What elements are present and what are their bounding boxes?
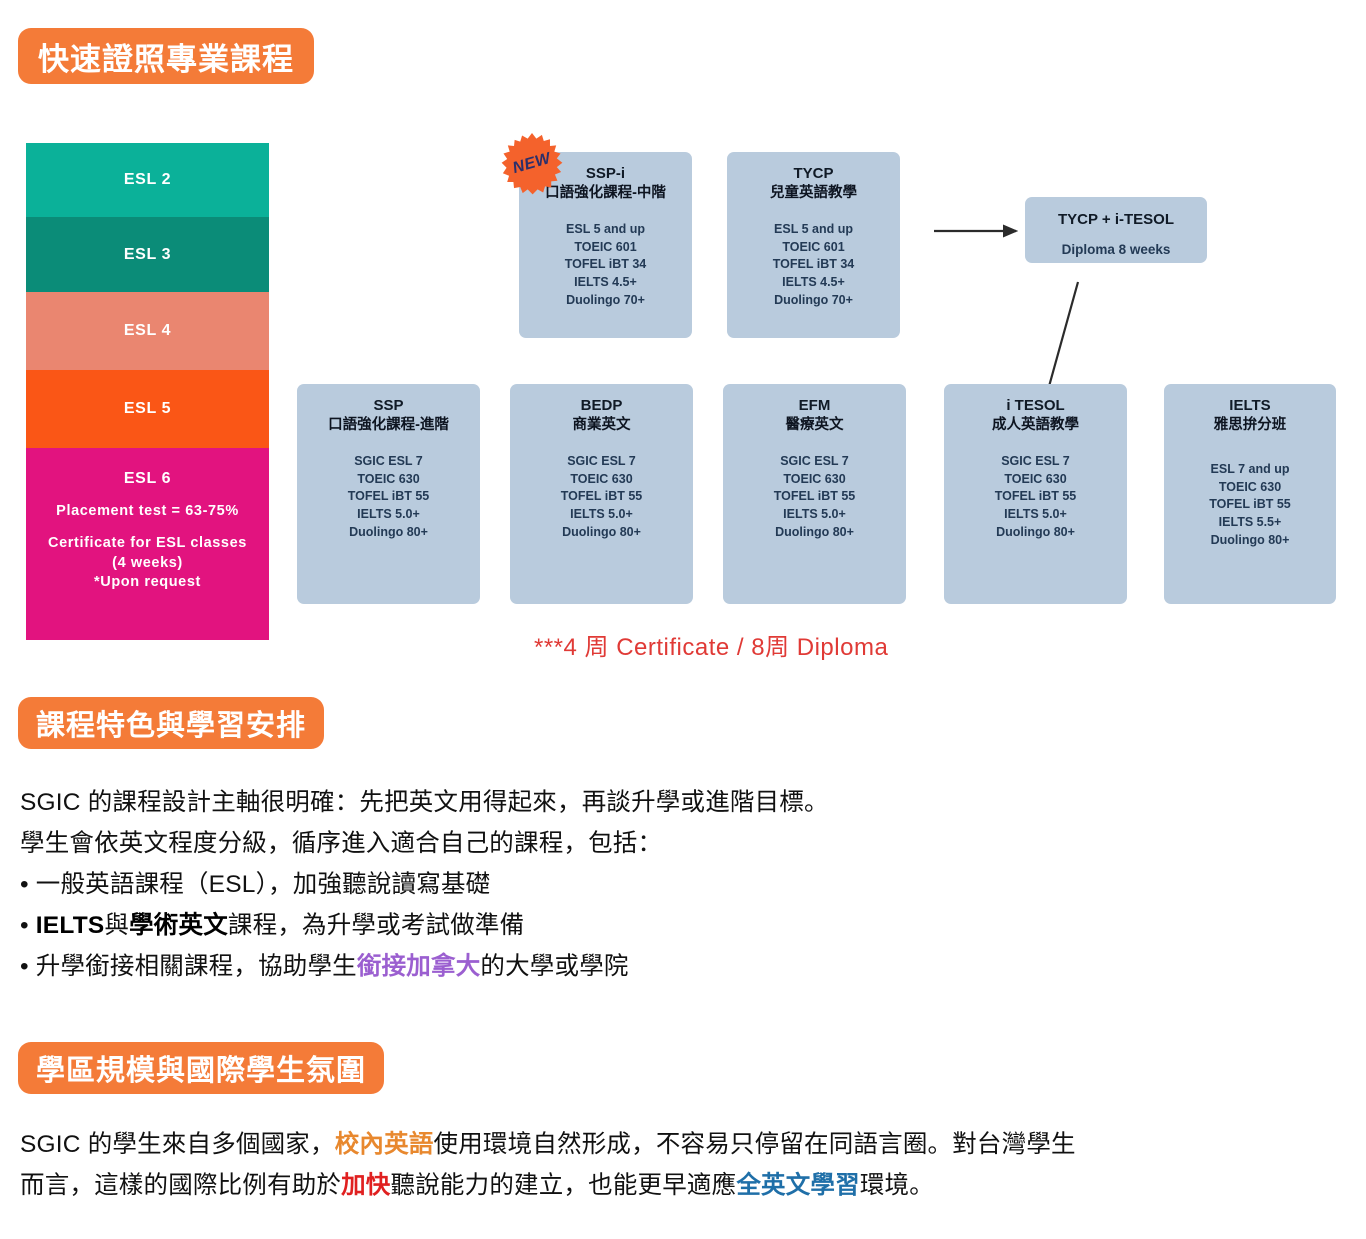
course-subtitle: 雅思拚分班 [1170, 416, 1330, 436]
requirement-item: Duolingo 80+ [516, 524, 687, 542]
esl-step-2: ESL 2 [26, 143, 269, 217]
requirement-item: TOFEL iBT 55 [516, 488, 687, 506]
course-box-ielts[interactable]: IELTS 雅思拚分班 ESL 7 and up TOEIC 630 TOFEL… [1164, 384, 1336, 604]
requirement-item: TOFEL iBT 55 [950, 488, 1121, 506]
emphasis-accelerate: 加快 [341, 1172, 390, 1199]
requirement-item: IELTS 4.5+ [733, 274, 894, 292]
esl-step-label: ESL 4 [124, 322, 171, 340]
section-heading-campus-scale: 學區規模與國際學生氛圍 [18, 1042, 384, 1094]
requirement-item: TOEIC 601 [733, 239, 894, 257]
paragraph-line: SGIC 的學生來自多個國家，校內英語使用環境自然形成，不容易只停留在同語言圈。… [20, 1124, 1360, 1165]
esl-placement-test-note: Placement test = 63-75% [56, 502, 239, 522]
requirement-item: ESL 5 and up [525, 221, 686, 239]
bullet-esl: • 一般英語課程（ESL），加強聽說讀寫基礎 [20, 864, 1340, 905]
requirement-item: TOFEL iBT 34 [733, 256, 894, 274]
emphasis-academic-english: 學術英文 [129, 912, 228, 939]
requirement-item: IELTS 5.0+ [516, 506, 687, 524]
diagram-footnote: ***4 周 Certificate / 8周 Diploma [534, 627, 888, 662]
course-subtitle: 兒童英語教學 [733, 184, 894, 204]
course-box-itesol[interactable]: i TESOL 成人英語教學 SGIC ESL 7 TOEIC 630 TOFE… [944, 384, 1127, 604]
course-subtitle: 口語強化課程-進階 [303, 416, 474, 436]
esl-certificate-note: Certificate for ESL classes (4 weeks) *U… [48, 534, 247, 593]
course-box-tycp[interactable]: TYCP 兒童英語教學 ESL 5 and up TOEIC 601 TOFEL… [727, 152, 900, 338]
requirement-item: IELTS 5.5+ [1170, 514, 1330, 532]
esl-step-label: ESL 3 [124, 246, 171, 264]
requirement-item: ESL 7 and up [1170, 461, 1330, 479]
esl-step-label: ESL 6 [124, 470, 171, 488]
requirement-item: SGIC ESL 7 [303, 453, 474, 471]
esl-step-label: ESL 2 [124, 171, 171, 189]
emphasis-ielts: IELTS [36, 912, 105, 939]
requirement-item: TOEIC 630 [1170, 479, 1330, 497]
requirement-item: SGIC ESL 7 [516, 453, 687, 471]
requirement-item: TOFEL iBT 55 [303, 488, 474, 506]
requirement-item: SGIC ESL 7 [950, 453, 1121, 471]
requirement-item: IELTS 5.0+ [303, 506, 474, 524]
paragraph-text: 環境。 [860, 1172, 934, 1199]
esl-level-ladder: ESL 2 ESL 3 ESL 4 ESL 5 ESL 6 Placement … [26, 143, 269, 640]
course-title: BEDP [516, 396, 687, 416]
paragraph-text: 而言，這樣的國際比例有助於 [20, 1172, 341, 1199]
bullet-text: 課程，為升學或考試做準備 [228, 912, 524, 939]
requirement-item: TOEIC 630 [950, 471, 1121, 489]
requirement-item: TOFEL iBT 34 [525, 256, 686, 274]
course-requirements: ESL 7 and up TOEIC 630 TOFEL iBT 55 IELT… [1170, 461, 1330, 550]
bullet-text: • 升學銜接相關課程，協助學生 [20, 953, 357, 980]
requirement-item: TOEIC 601 [525, 239, 686, 257]
requirement-item: TOFEL iBT 55 [1170, 496, 1330, 514]
bullet-text: 的大學或學院 [480, 953, 628, 980]
course-box-ssp[interactable]: SSP 口語強化課程-進階 SGIC ESL 7 TOEIC 630 TOFEL… [297, 384, 480, 604]
requirement-item: ESL 5 and up [733, 221, 894, 239]
bullet-text: 與 [104, 912, 129, 939]
course-box-bedp[interactable]: BEDP 商業英文 SGIC ESL 7 TOEIC 630 TOFEL iBT… [510, 384, 693, 604]
course-title: EFM [729, 396, 900, 416]
new-badge-label: NEW [494, 126, 571, 203]
emphasis-canada-pathway: 銜接加拿大 [357, 953, 481, 980]
course-requirements: SGIC ESL 7 TOEIC 630 TOFEL iBT 55 IELTS … [729, 453, 900, 542]
requirement-item: TOFEL iBT 55 [729, 488, 900, 506]
bullet-ielts-academic: • IELTS與學術英文課程，為升學或考試做準備 [20, 905, 1340, 946]
section-heading-certificate-programs: 快速證照專業課程 [18, 28, 314, 84]
esl-step-4: ESL 4 [26, 292, 269, 370]
line-itesol-to-diploma [1048, 282, 1078, 390]
paragraph-text: SGIC 的學生來自多個國家， [20, 1131, 335, 1158]
requirement-item: TOEIC 630 [303, 471, 474, 489]
requirement-item: Duolingo 80+ [303, 524, 474, 542]
requirement-item: TOEIC 630 [516, 471, 687, 489]
new-starburst-badge: NEW [501, 133, 563, 195]
course-title: SSP [303, 396, 474, 416]
course-title: TYCP [733, 164, 894, 184]
paragraph-text: 聽說能力的建立，也能更早適應 [391, 1172, 737, 1199]
paragraph-line: 學生會依英文程度分級，循序進入適合自己的課程，包括： [20, 823, 1340, 864]
course-requirements: SGIC ESL 7 TOEIC 630 TOFEL iBT 55 IELTS … [950, 453, 1121, 542]
paragraph-line: SGIC 的課程設計主軸很明確：先把英文用得起來，再談升學或進階目標。 [20, 782, 1340, 823]
requirement-item: Duolingo 70+ [733, 292, 894, 310]
esl-step-6: ESL 6 Placement test = 63-75% Certificat… [26, 448, 269, 640]
course-subtitle: 醫療英文 [729, 416, 900, 436]
requirement-item: IELTS 5.0+ [729, 506, 900, 524]
emphasis-campus-english: 校內英語 [335, 1131, 434, 1158]
esl-step-3: ESL 3 [26, 217, 269, 292]
course-title: IELTS [1170, 396, 1330, 416]
requirement-item: IELTS 5.0+ [950, 506, 1121, 524]
course-title: i TESOL [950, 396, 1121, 416]
course-requirements: SGIC ESL 7 TOEIC 630 TOFEL iBT 55 IELTS … [303, 453, 474, 542]
course-subtitle: 成人英語教學 [950, 416, 1121, 436]
requirement-item: Duolingo 80+ [1170, 532, 1330, 550]
emphasis-full-english-study: 全英文學習 [736, 1172, 860, 1199]
requirement-item: SGIC ESL 7 [729, 453, 900, 471]
flow-connectors [920, 190, 1220, 410]
course-subtitle: 商業英文 [516, 416, 687, 436]
requirement-item: IELTS 4.5+ [525, 274, 686, 292]
course-requirements: SGIC ESL 7 TOEIC 630 TOFEL iBT 55 IELTS … [516, 453, 687, 542]
paragraph-line: 而言，這樣的國際比例有助於加快聽說能力的建立，也能更早適應全英文學習環境。 [20, 1165, 1360, 1206]
paragraph-text: 使用環境自然形成，不容易只停留在同語言圈。對台灣學生 [434, 1131, 1076, 1158]
bullet-pathway: • 升學銜接相關課程，協助學生銜接加拿大的大學或學院 [20, 946, 1340, 987]
bullet-marker: • [20, 912, 36, 939]
requirement-item: Duolingo 80+ [729, 524, 900, 542]
course-box-efm[interactable]: EFM 醫療英文 SGIC ESL 7 TOEIC 630 TOFEL iBT … [723, 384, 906, 604]
requirement-item: Duolingo 70+ [525, 292, 686, 310]
esl-step-label: ESL 5 [124, 400, 171, 418]
section-heading-course-features: 課程特色與學習安排 [18, 697, 324, 749]
requirement-item: Duolingo 80+ [950, 524, 1121, 542]
course-features-paragraph: SGIC 的課程設計主軸很明確：先把英文用得起來，再談升學或進階目標。 學生會依… [20, 782, 1340, 987]
course-requirements: ESL 5 and up TOEIC 601 TOFEL iBT 34 IELT… [525, 221, 686, 310]
campus-atmosphere-paragraph: SGIC 的學生來自多個國家，校內英語使用環境自然形成，不容易只停留在同語言圈。… [20, 1124, 1360, 1206]
requirement-item: TOEIC 630 [729, 471, 900, 489]
course-requirements: ESL 5 and up TOEIC 601 TOFEL iBT 34 IELT… [733, 221, 894, 310]
esl-step-5: ESL 5 [26, 370, 269, 448]
